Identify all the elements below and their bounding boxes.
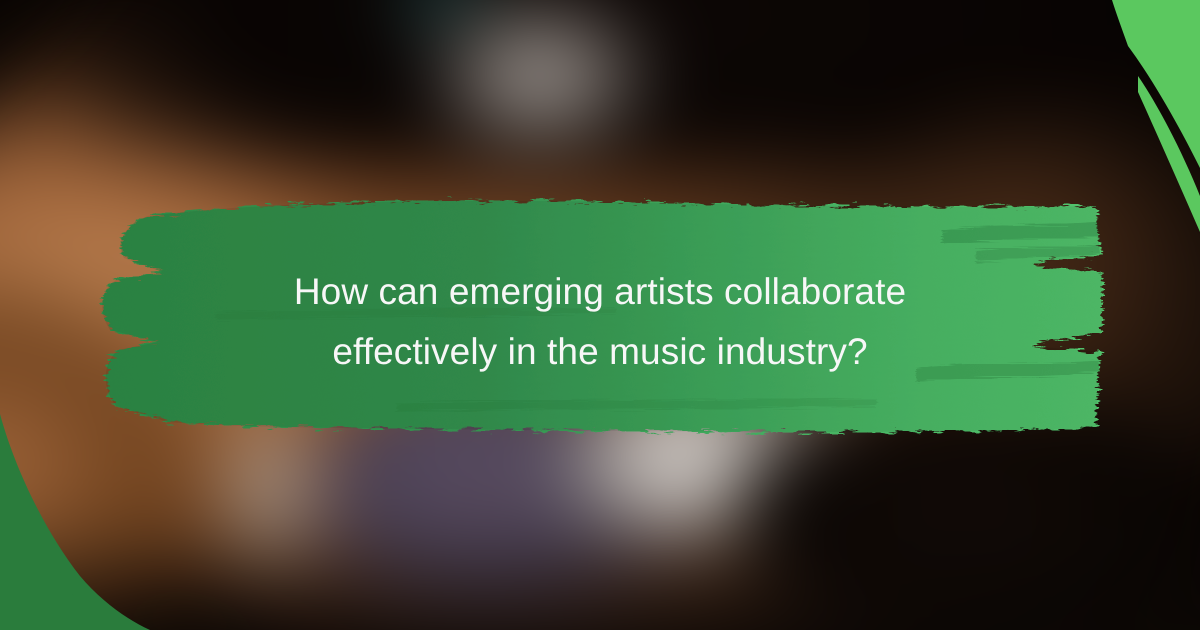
quote-card: How can emerging artists collaborate eff… bbox=[0, 0, 1200, 630]
headline-line-1: How can emerging artists collaborate bbox=[150, 262, 1050, 322]
headline-line-2: effectively in the music industry? bbox=[150, 322, 1050, 382]
headline-text: How can emerging artists collaborate eff… bbox=[150, 262, 1050, 382]
